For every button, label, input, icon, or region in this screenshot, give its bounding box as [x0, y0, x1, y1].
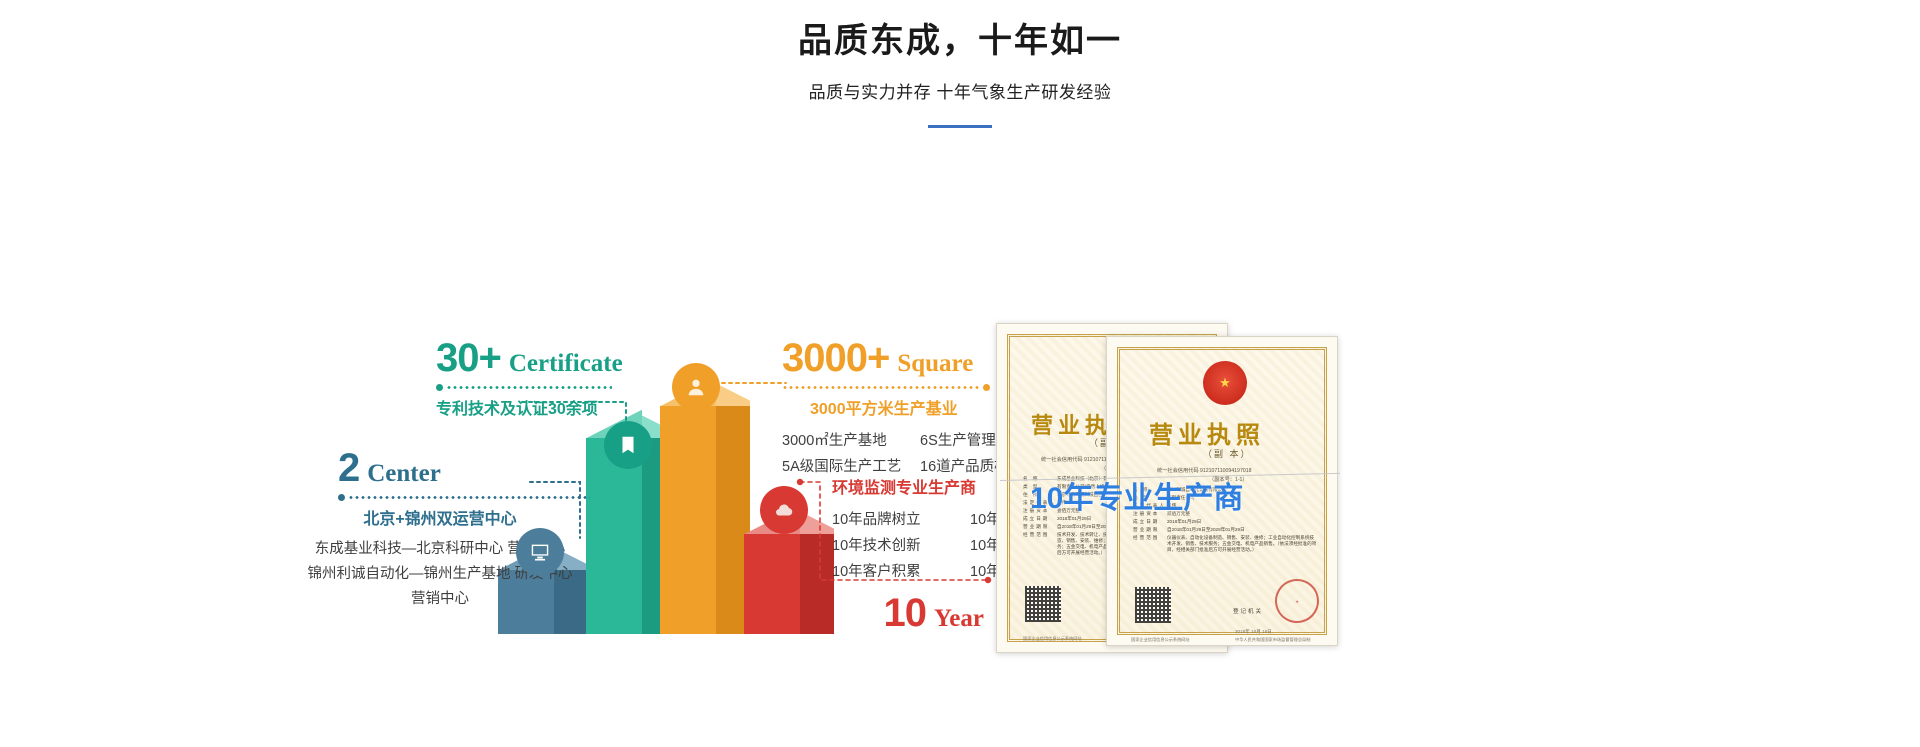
page-title: 品质东成，十年如一 — [0, 18, 1920, 64]
infographic-stage: 2Center 北京+锦州双运营中心 东成基业科技—北京科研中心 营销中心 锦州… — [0, 128, 1920, 688]
book-icon-badge — [604, 421, 652, 469]
monitor-icon — [529, 541, 551, 563]
certificate-row-value: 自2018年01月29日至2028年01月29日 — [1167, 527, 1245, 533]
certificate-front-footer: 国家企业信用信息公示系统网址 — [1131, 637, 1190, 643]
page-subtitle: 品质与实力并存 十年气象生产研发经验 — [0, 78, 1920, 103]
monitor-icon-badge — [516, 528, 564, 576]
certificate-front-authority: 登记机关 — [1233, 607, 1263, 615]
certificate-front-qr-code — [1135, 587, 1171, 623]
certificate-front-footer-note: 中华人民共和国国家市场监督管理总局制 — [1235, 637, 1310, 643]
certificate-row: 经营范围 仪器仪表、自动化设备制造、销售、安装、维修；工业自动化控制系统技术开发… — [1133, 535, 1323, 553]
cloud-icon-badge — [760, 486, 808, 534]
person-icon-badge — [672, 363, 720, 411]
person-icon — [685, 376, 707, 398]
certificate-row-value: 仪器仪表、自动化设备制造、销售、安装、维修；工业自动化控制系统技术开发、销售、技… — [1167, 535, 1317, 553]
certificate-row: 成立日期 2018年01月29日 — [1133, 519, 1323, 525]
certificate-front-title: 营业执照 — [1149, 415, 1265, 450]
certificates-group: 营业执照 （副 本） 统一社会信用代码 912107110094197018 （… — [0, 128, 1920, 688]
certificate-row-label: 经营范围 — [1023, 532, 1057, 538]
certificate-row-label: 营业期限 — [1133, 527, 1167, 533]
certificate-row-label: 经营范围 — [1133, 535, 1167, 541]
certificate-front-date: 2018年 10月 16日 — [1235, 629, 1272, 635]
certificate-row: 营业期限 自2018年01月29日至2028年01月29日 — [1133, 527, 1323, 533]
certificate-row-value: 2018年01月29日 — [1167, 519, 1201, 525]
page-header: 品质东成，十年如一 品质与实力并存 十年气象生产研发经验 — [0, 0, 1920, 128]
cloud-icon — [773, 499, 795, 521]
certificate-row-label: 营业期限 — [1023, 524, 1057, 530]
certificate-back-qr-code — [1025, 586, 1061, 622]
certificate-front-subtitle: （副 本） — [1203, 447, 1252, 460]
certificate-overlay-text: 10年专业生产商 — [1030, 473, 1243, 517]
book-icon — [617, 434, 639, 456]
certificate-back-footer: 国家企业信用信息公示系统网址 — [1023, 636, 1082, 642]
national-emblem-icon — [1203, 361, 1247, 405]
certificate-row-label: 成立日期 — [1133, 519, 1167, 525]
